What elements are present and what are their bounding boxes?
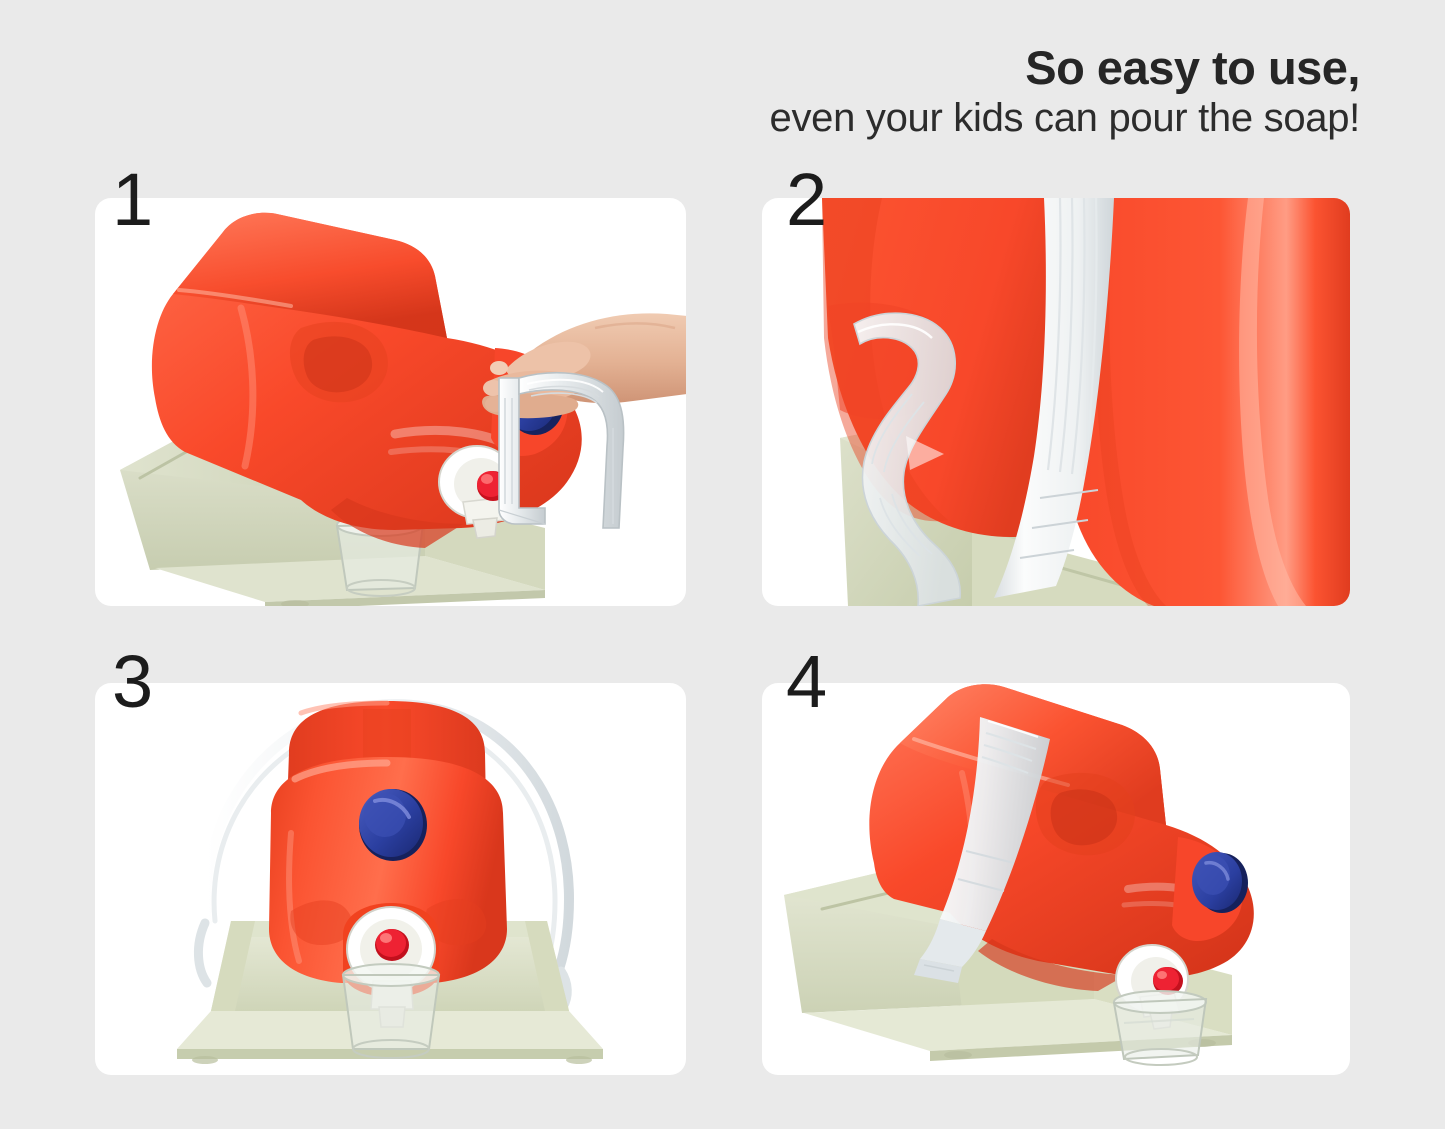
measuring-cup: [1114, 991, 1206, 1065]
step-number-2: 2: [786, 163, 827, 237]
step-3-illustration: [95, 683, 686, 1075]
headline: So easy to use, even your kids can pour …: [560, 44, 1360, 138]
step-number-4: 4: [786, 645, 827, 719]
step-number-1: 1: [112, 163, 153, 237]
headline-primary: So easy to use,: [560, 44, 1360, 91]
step-1-illustration: [95, 198, 686, 606]
step-panel-2: [762, 198, 1350, 606]
blue-cap: [359, 789, 427, 861]
step-panel-1: [95, 198, 686, 606]
step-panel-3: [95, 683, 686, 1075]
step-4-illustration: [762, 683, 1350, 1075]
step-2-illustration: [762, 198, 1350, 606]
red-button: [375, 929, 409, 961]
headline-secondary: even your kids can pour the soap!: [560, 98, 1360, 138]
measuring-cup: [343, 964, 439, 1058]
step-number-3: 3: [112, 645, 153, 719]
step-panel-4: [762, 683, 1350, 1075]
